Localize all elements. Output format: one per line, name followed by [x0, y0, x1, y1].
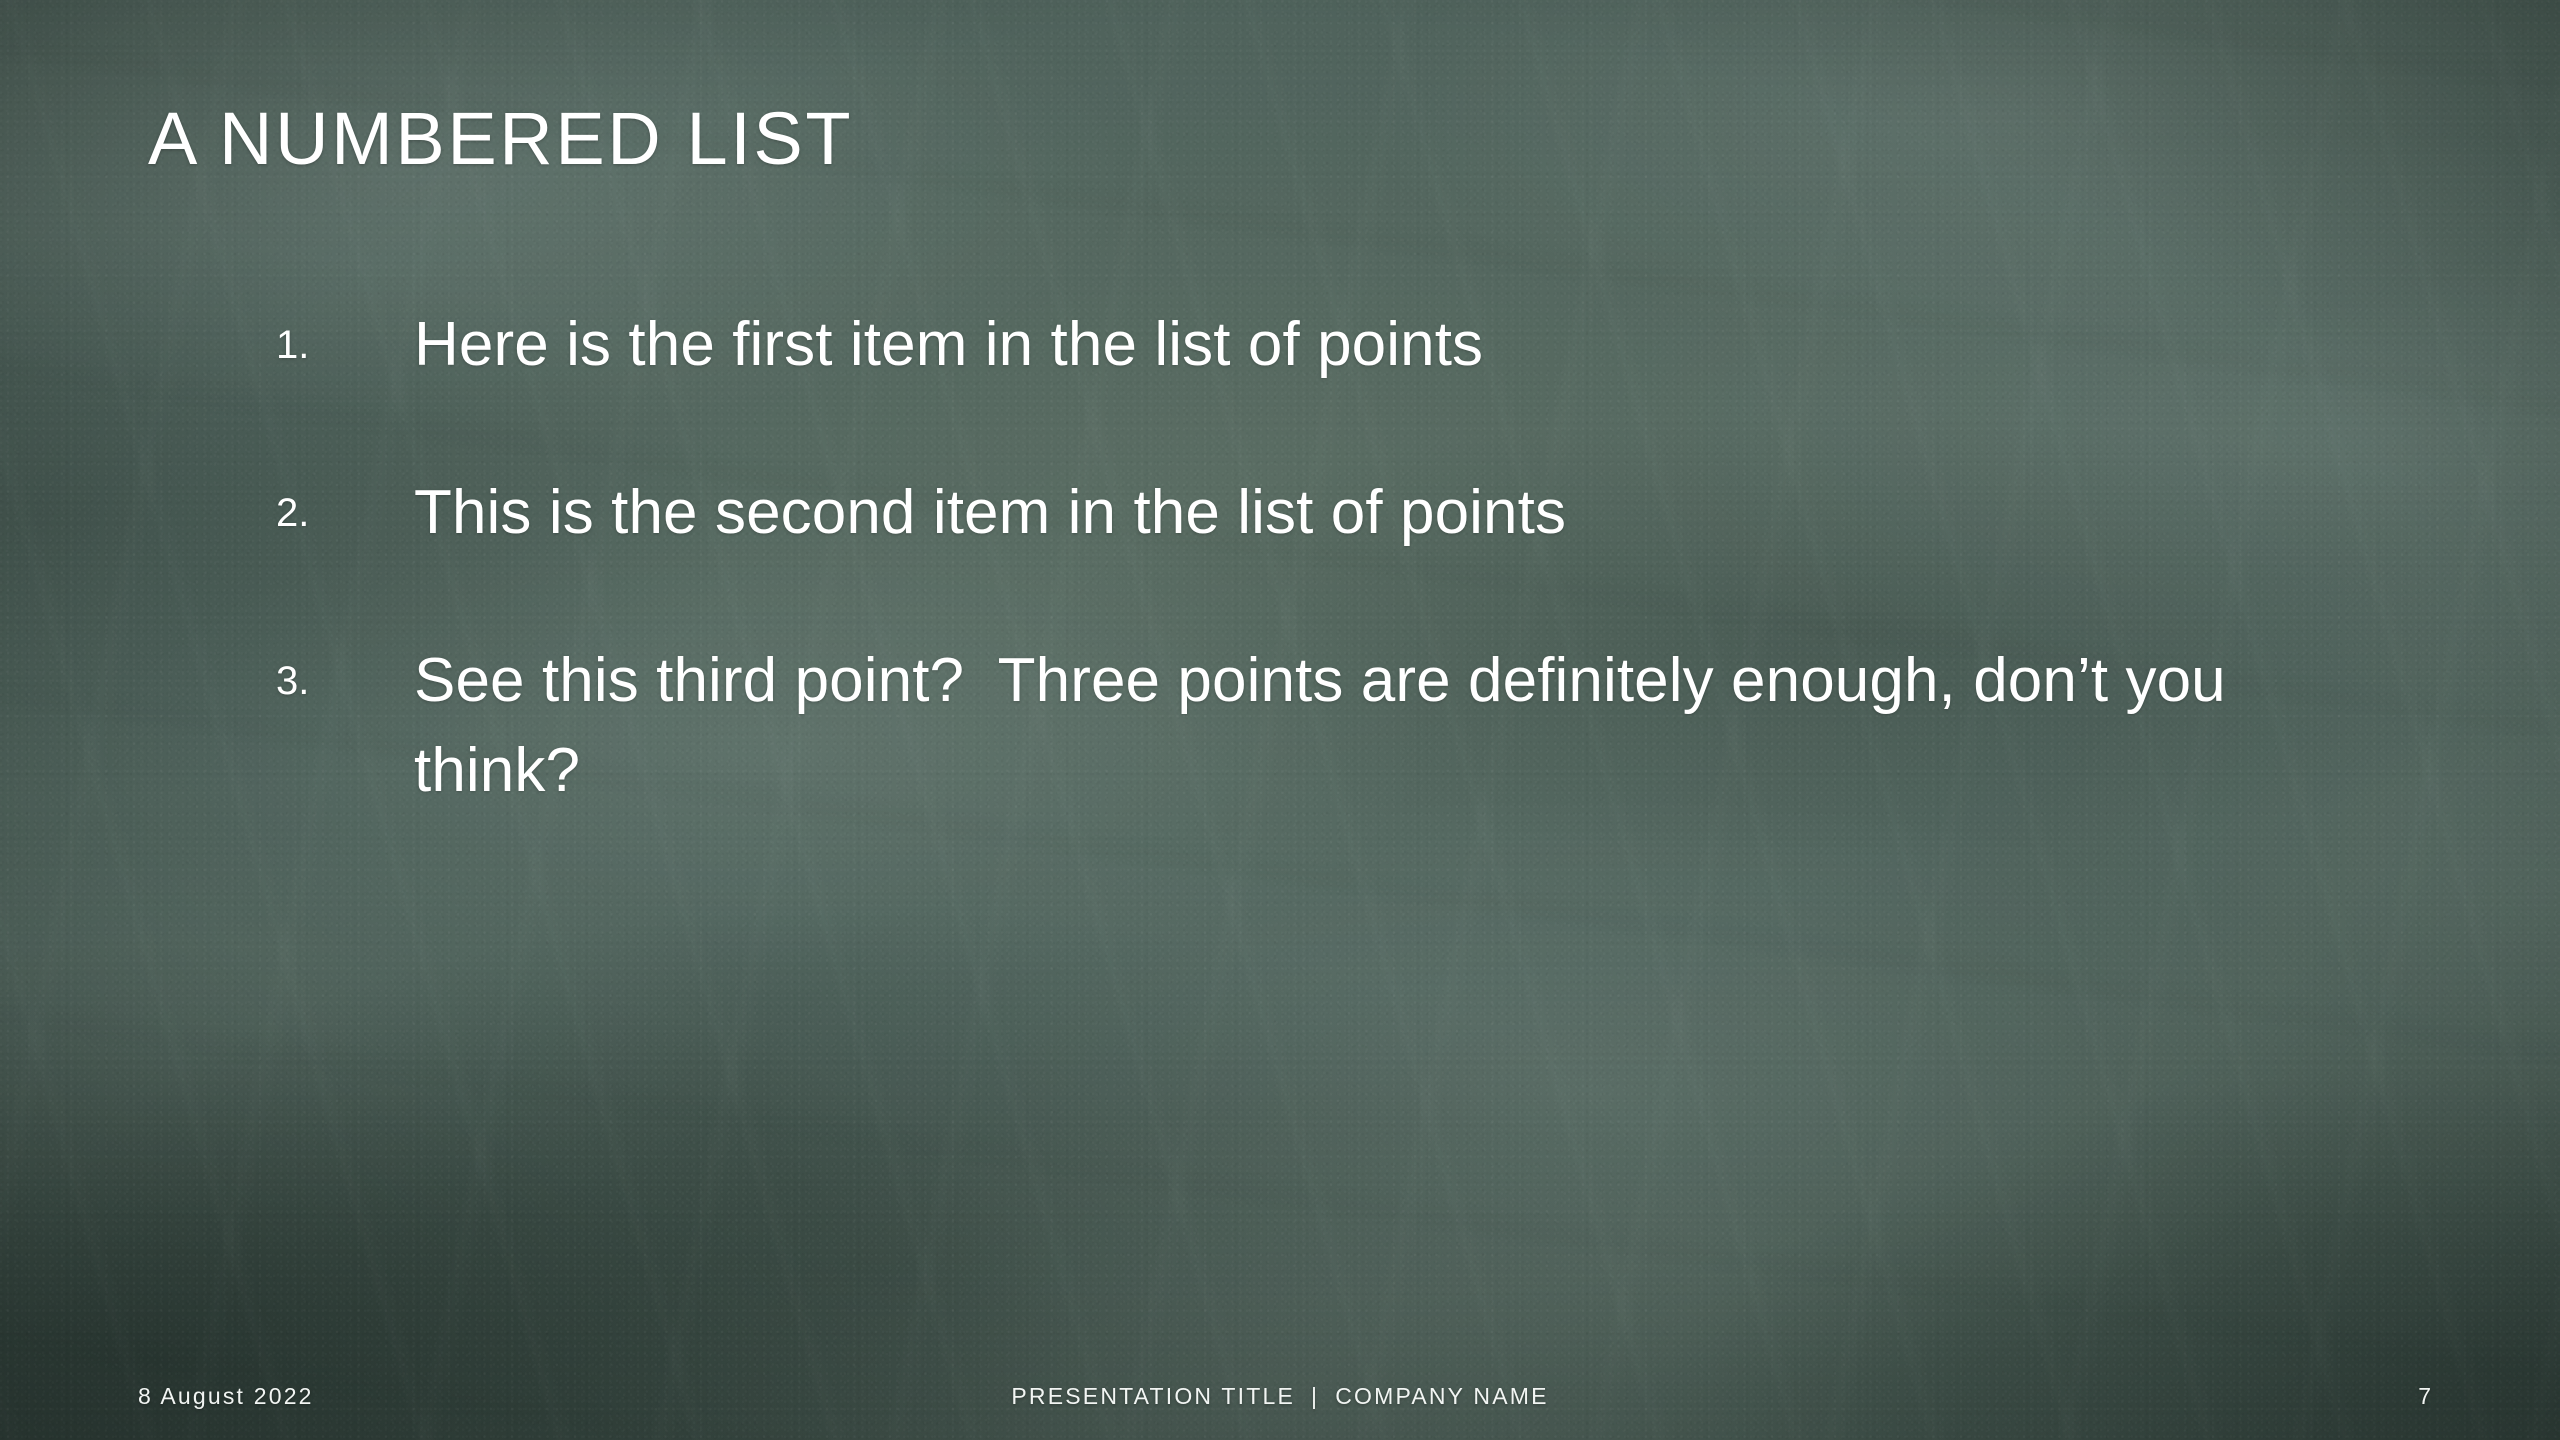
list-item: 3. See this third point? Three points ar… — [272, 636, 2232, 816]
presentation-slide: A NUMBERED LIST 1. Here is the first ite… — [0, 0, 2560, 1440]
list-item-text: This is the second item in the list of p… — [414, 468, 2232, 558]
list-item: 2. This is the second item in the list o… — [272, 468, 2232, 558]
footer-center: PRESENTATION TITLE|COMPANY NAME — [0, 1383, 2560, 1410]
list-item-text: Here is the first item in the list of po… — [414, 300, 2232, 390]
slide-content: A NUMBERED LIST 1. Here is the first ite… — [0, 0, 2560, 1440]
list-item-text: See this third point? Three points are d… — [414, 636, 2232, 816]
list-item-number: 2. — [272, 468, 414, 558]
list-item: 1. Here is the first item in the list of… — [272, 300, 2232, 390]
numbered-list: 1. Here is the first item in the list of… — [272, 300, 2232, 894]
footer-presentation-title: PRESENTATION TITLE — [1011, 1383, 1295, 1409]
list-item-number: 1. — [272, 300, 414, 390]
footer-company-name: COMPANY NAME — [1335, 1383, 1548, 1409]
footer-separator: | — [1295, 1383, 1335, 1409]
footer-page-number: 7 — [2418, 1383, 2432, 1410]
slide-title: A NUMBERED LIST — [148, 96, 853, 181]
list-item-number: 3. — [272, 636, 414, 726]
